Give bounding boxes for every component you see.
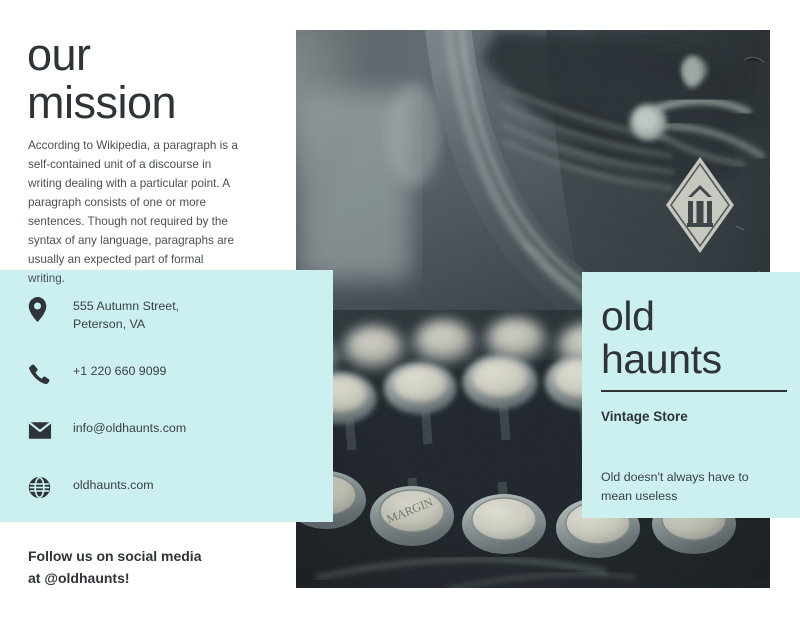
contact-item-website[interactable]: oldhaunts.com: [28, 475, 308, 505]
contact-phone-text: +1 220 660 9099: [58, 361, 166, 381]
phone-icon: [28, 361, 58, 387]
location-pin-icon: [28, 296, 58, 322]
social-line-1: Follow us on social media: [28, 548, 201, 564]
page-title-line1: our: [27, 31, 267, 79]
brand-tagline: Old doesn't always have to mean useless: [601, 468, 776, 505]
contact-item-address: 555 Autumn Street, Peterson, VA: [28, 296, 308, 334]
contact-list: 555 Autumn Street, Peterson, VA +1 220 6…: [28, 296, 308, 505]
contact-email-text: info@oldhaunts.com: [58, 418, 186, 438]
brand-name: old haunts: [601, 295, 791, 381]
address-line-2: Peterson, VA: [73, 317, 145, 331]
contact-item-phone[interactable]: +1 220 660 9099: [28, 361, 308, 391]
contact-website-text: oldhaunts.com: [58, 475, 154, 495]
brand-name-line2: haunts: [601, 338, 791, 381]
brand-subtitle: Vintage Store: [601, 409, 688, 424]
mission-paragraph: According to Wikipedia, a paragraph is a…: [28, 137, 243, 289]
contact-address-text: 555 Autumn Street, Peterson, VA: [58, 296, 179, 334]
brand-divider: [601, 390, 787, 392]
address-line-1: 555 Autumn Street,: [73, 299, 179, 313]
social-line-2: at @oldhaunts!: [28, 570, 130, 586]
envelope-icon: [28, 418, 58, 444]
contact-item-email[interactable]: info@oldhaunts.com: [28, 418, 308, 448]
page-title-line2: mission: [27, 79, 267, 127]
globe-icon: [28, 475, 58, 501]
page-title: our mission: [27, 31, 267, 127]
social-media-callout: Follow us on social media at @oldhaunts!: [28, 546, 278, 589]
brand-name-line1: old: [601, 295, 791, 338]
